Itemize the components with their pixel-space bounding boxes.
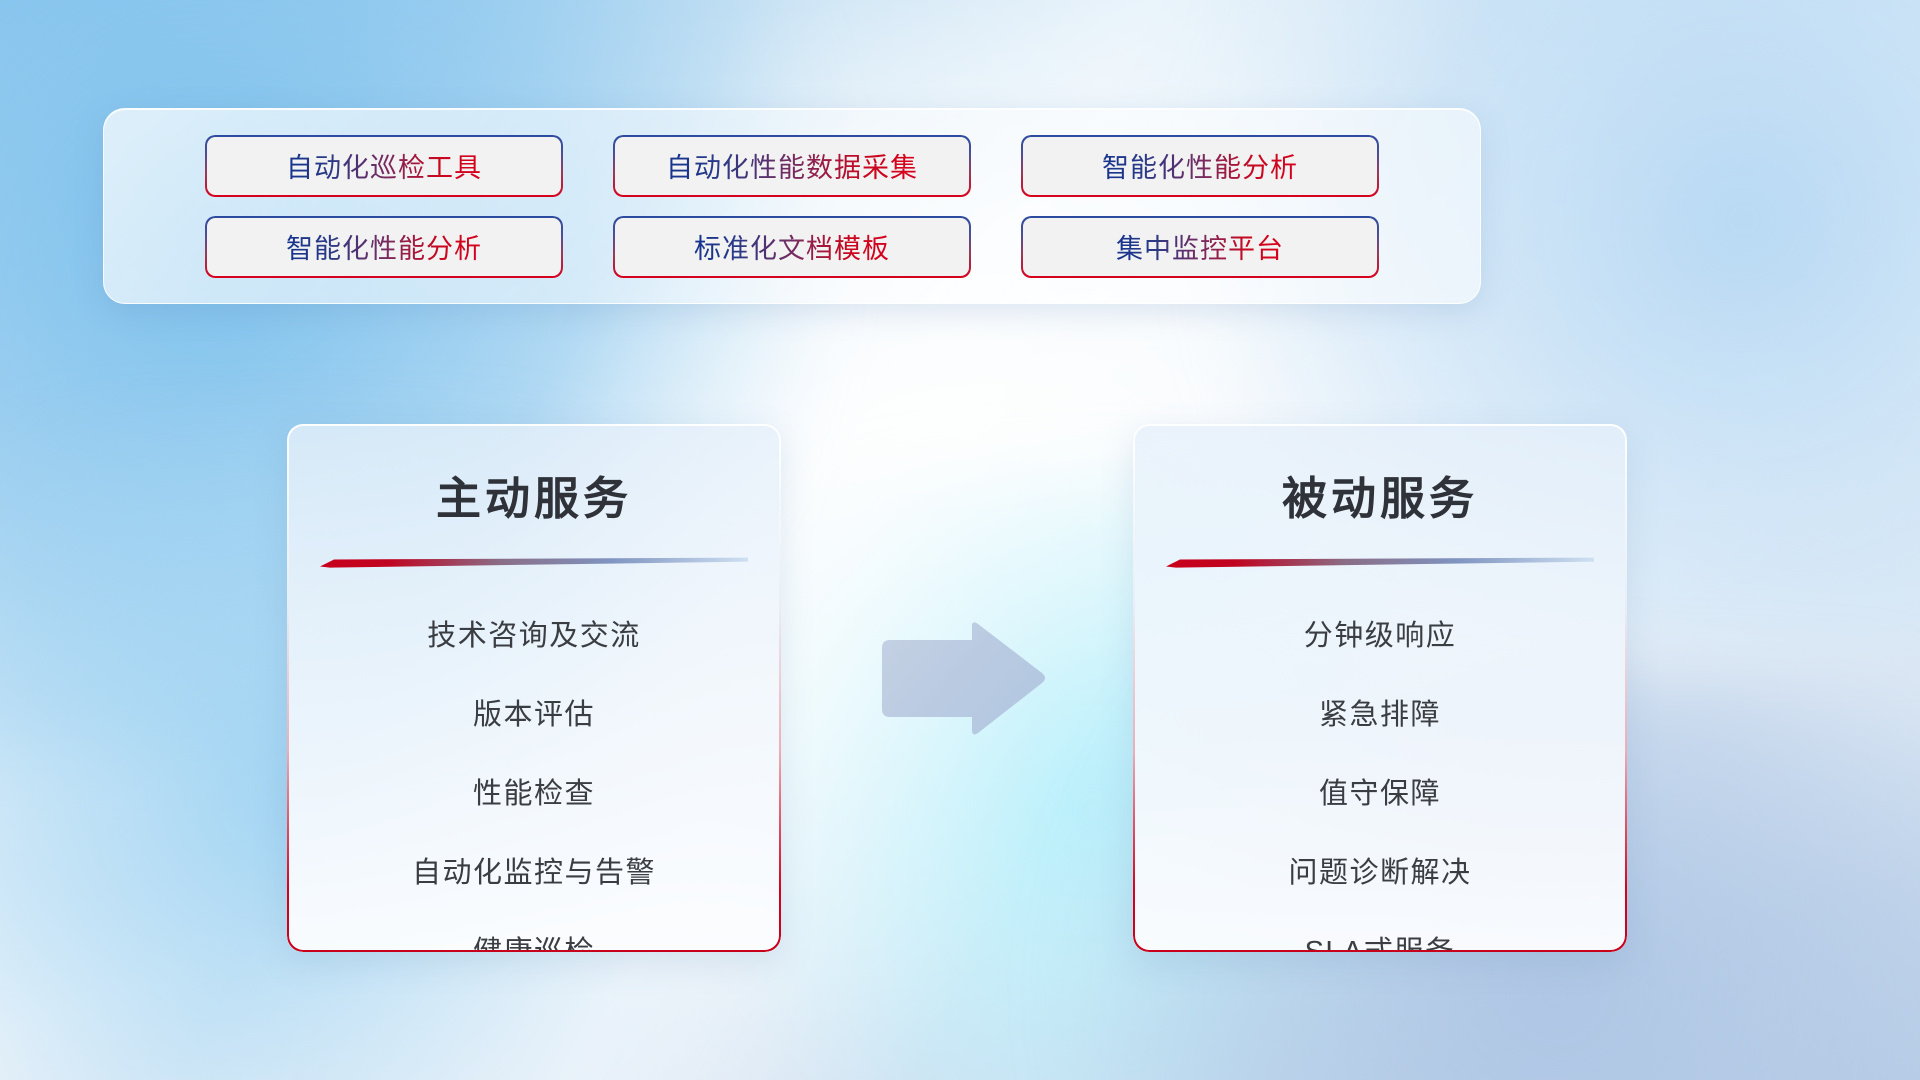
service-card-active: 主动服务 技术咨询及交流 版本评估 性能检查 自动化监控与告警 健康巡检 [287,424,781,952]
capability-pill-label: 标准化文档模板 [694,227,890,266]
list-item[interactable]: 性能检查 [287,766,781,823]
card-divider [1166,557,1594,568]
capability-pill-centralized-monitoring-platform[interactable]: 集中监控平台 [1021,216,1379,278]
list-item[interactable]: 自动化监控与告警 [287,845,781,902]
list-item[interactable]: 版本评估 [287,687,781,744]
capability-pill-label: 集中监控平台 [1116,227,1284,266]
card-item-list: 技术咨询及交流 版本评估 性能检查 自动化监控与告警 健康巡检 [287,608,781,952]
service-card-passive: 被动服务 分钟级响应 紧急排障 值守保障 问题诊断解决 SLA式服务 [1133,424,1627,952]
capability-pill-label: 自动化巡检工具 [286,146,482,185]
card-title: 主动服务 [287,462,781,527]
card-item-list: 分钟级响应 紧急排障 值守保障 问题诊断解决 SLA式服务 [1133,608,1627,952]
list-item[interactable]: SLA式服务 [1133,924,1627,952]
capability-row-1: 自动化巡检工具 自动化性能数据采集 智能化性能分析 [104,125,1480,206]
list-item[interactable]: 值守保障 [1133,766,1627,823]
list-item[interactable]: 紧急排障 [1133,687,1627,744]
capability-pill-label: 智能化性能分析 [286,227,482,266]
card-title: 被动服务 [1133,462,1627,527]
list-item[interactable]: 技术咨询及交流 [287,608,781,665]
capability-pill-standardized-document-template[interactable]: 标准化文档模板 [613,216,971,278]
capability-pill-automated-performance-data-collection[interactable]: 自动化性能数据采集 [613,135,971,197]
capability-row-2: 智能化性能分析 标准化文档模板 集中监控平台 [104,206,1480,287]
capability-pill-automation-inspection-tool[interactable]: 自动化巡检工具 [205,135,563,197]
capability-pill-label: 智能化性能分析 [1102,146,1298,185]
capability-pill-intelligent-performance-analysis-1[interactable]: 智能化性能分析 [1021,135,1379,197]
list-item[interactable]: 分钟级响应 [1133,608,1627,665]
list-item[interactable]: 健康巡检 [287,924,781,952]
capability-panel: 自动化巡检工具 自动化性能数据采集 智能化性能分析 智能化性能分析 标准化文档模… [103,108,1481,304]
capability-pill-intelligent-performance-analysis-2[interactable]: 智能化性能分析 [205,216,563,278]
card-divider [320,557,748,568]
arrow-right-icon [876,620,1048,738]
list-item[interactable]: 问题诊断解决 [1133,845,1627,902]
capability-pill-label: 自动化性能数据采集 [666,146,918,185]
